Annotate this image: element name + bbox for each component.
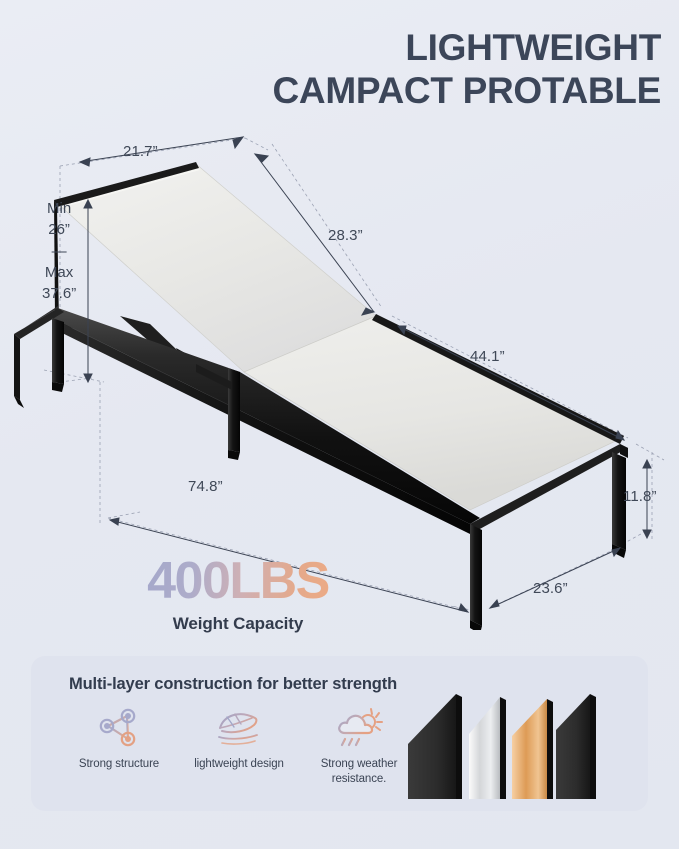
dimension-label-overall-length: 74.8”: [188, 478, 223, 495]
material-layers-graphic: [404, 678, 636, 802]
feature-label-strong-structure: Strong structure: [61, 757, 177, 772]
weight-capacity-label: Weight Capacity: [133, 614, 343, 634]
dimension-label-leg-height: 11.8”: [623, 488, 657, 505]
dimension-label-backrest-height-range: Min 26” — Max 37.6”: [42, 198, 76, 304]
feature-panel: Multi-layer construction for better stre…: [31, 656, 648, 811]
feather-icon: [181, 704, 297, 752]
feature-panel-title: Multi-layer construction for better stre…: [69, 675, 397, 694]
product-illustration: [0, 120, 679, 630]
dimension-label-backrest-width: 21.7”: [123, 143, 158, 160]
network-nodes-icon: [61, 704, 177, 752]
headline-line-1: LIGHTWEIGHT: [273, 26, 661, 69]
feature-label-weather-resistance: Strong weather resistance.: [301, 757, 417, 786]
feature-item-strong-structure: Strong structure: [59, 704, 179, 772]
feature-label-lightweight-design: lightweight design: [181, 757, 297, 772]
backrest-min-value: 26”: [42, 219, 76, 240]
dimension-label-seat-length: 44.1”: [470, 348, 505, 365]
headline-line-2: CAMPACT PROTABLE: [273, 69, 661, 112]
dimension-label-overall-depth: 23.6”: [533, 580, 568, 597]
material-layer-copper: [512, 699, 553, 799]
material-layer-inner-dark: [556, 694, 596, 799]
dimension-label-backrest-length: 28.3”: [328, 227, 363, 244]
material-layer-silver: [469, 697, 506, 799]
backrest-range-separator: —: [42, 241, 76, 262]
weight-capacity-block: 400LBS Weight Capacity: [133, 555, 343, 634]
page-title: LIGHTWEIGHT CAMPACT PROTABLE: [273, 26, 661, 113]
backrest-max-label: Max: [42, 262, 76, 283]
feature-list: Strong structure: [59, 704, 419, 786]
material-layer-outer-dark: [408, 694, 462, 799]
product-infographic: LIGHTWEIGHT CAMPACT PROTABLE: [0, 0, 679, 849]
backrest-max-value: 37.6”: [42, 283, 76, 304]
weight-capacity-value: 400LBS: [133, 555, 343, 607]
feature-item-weather-resistance: Strong weather resistance.: [299, 704, 419, 786]
feature-item-lightweight-design: lightweight design: [179, 704, 299, 772]
cloud-sun-rain-icon: [301, 704, 417, 752]
backrest-min-label: Min: [42, 198, 76, 219]
